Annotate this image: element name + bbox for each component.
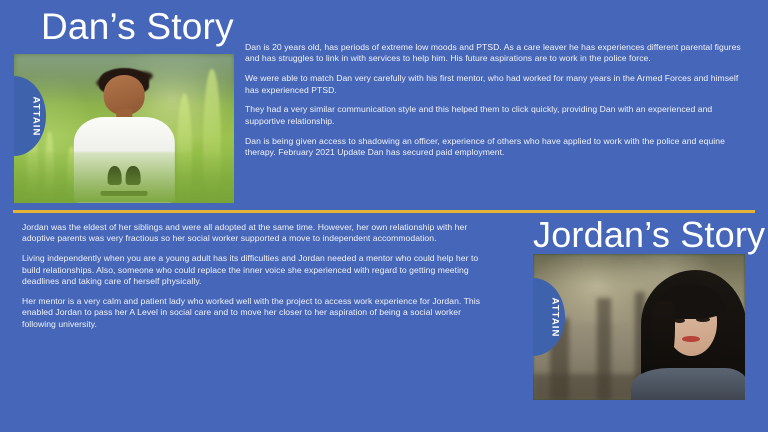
lips [682, 336, 700, 343]
section-divider [13, 210, 755, 213]
attain-badge-dan: ATTAIN [14, 76, 46, 156]
dan-paragraph-4: Dan is being given access to shadowing a… [245, 136, 753, 159]
jordan-paragraph-3: Her mentor is a very calm and patient la… [22, 296, 490, 330]
jacket [631, 368, 745, 400]
foreground-grass [14, 152, 234, 203]
attain-label: ATTAIN [550, 297, 561, 337]
attain-badge-text-wrap: ATTAIN [14, 76, 46, 156]
dan-story-title: Dan’s Story [41, 8, 234, 45]
slide-canvas: Dan’s Story ATTAIN [0, 0, 768, 432]
jordan-story-text: Jordan was the eldest of her siblings an… [22, 222, 490, 330]
jordan-story-title: Jordan’s Story [533, 217, 765, 253]
dan-paragraph-1: Dan is 20 years old, has periods of extr… [245, 42, 753, 65]
dan-story-text: Dan is 20 years old, has periods of extr… [245, 42, 753, 158]
dan-photo: ATTAIN [14, 54, 234, 203]
attain-badge-jordan: ATTAIN [533, 278, 565, 356]
attain-label: ATTAIN [31, 96, 42, 136]
jordan-photo: ATTAIN [533, 254, 745, 400]
dan-paragraph-2: We were able to match Dan very carefully… [245, 73, 753, 96]
jordan-portrait-figure [626, 266, 745, 400]
jordan-paragraph-1: Jordan was the eldest of her siblings an… [22, 222, 490, 245]
attain-badge-text-wrap: ATTAIN [533, 278, 565, 356]
dan-paragraph-3: They had a very similar communication st… [245, 104, 753, 127]
jordan-paragraph-2: Living independently when you are a youn… [22, 253, 490, 287]
